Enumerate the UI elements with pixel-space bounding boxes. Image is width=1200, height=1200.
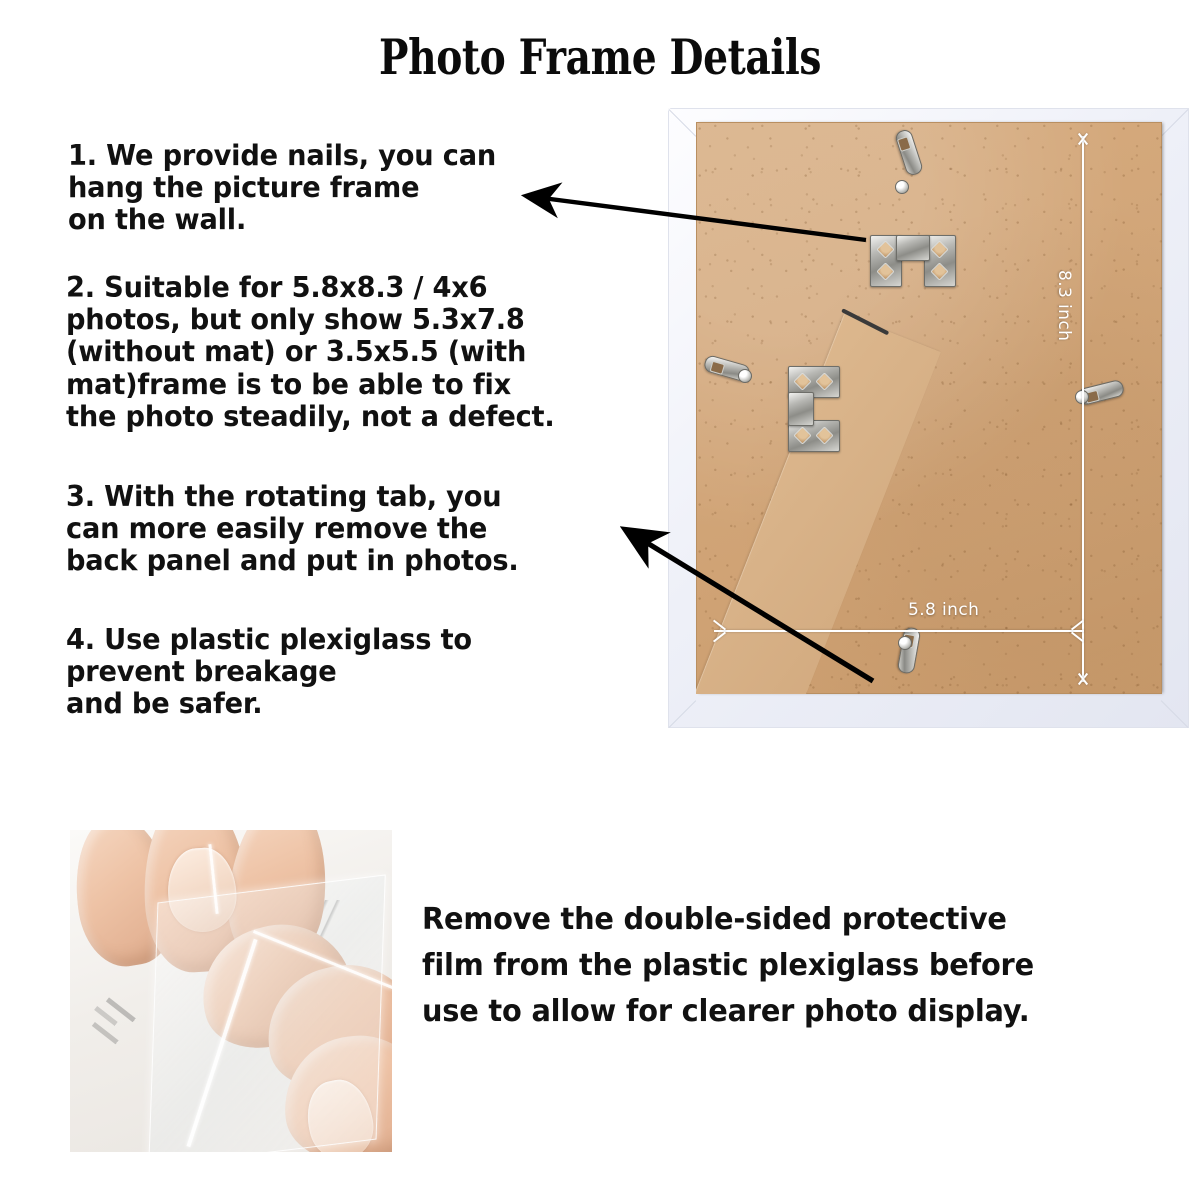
dimension-label-height: 8.3 inch [1054,270,1074,341]
plexiglass-sheet [148,874,386,1152]
instruction-item-2: 2. Suitable for 5.8x8.3 / 4x6 photos, bu… [66,272,620,433]
plexiglass-film-photo [70,830,392,1152]
infographic-canvas: Photo Frame Details 1. We provide nails,… [0,0,1200,1200]
dimension-line-vertical [1082,136,1084,682]
bottom-note-text: Remove the double-sided protective film … [422,897,1123,1035]
frame-back-photo: 8.3 inch 5.8 inch [660,100,1200,732]
backing-board: 8.3 inch 5.8 inch [696,122,1162,694]
instruction-item-1: 1. We provide nails, you can hang the pi… [68,140,603,237]
instruction-item-4: 4. Use plastic plexiglass to prevent bre… [66,624,601,721]
page-title: Photo Frame Details [120,28,1080,86]
instruction-item-3: 3. With the rotating tab, you can more e… [66,481,610,578]
dimension-line-horizontal [714,630,1084,632]
sawtooth-hanger-top [870,235,956,291]
sawtooth-hanger-mid [788,366,844,452]
dimension-label-width: 5.8 inch [908,600,979,620]
